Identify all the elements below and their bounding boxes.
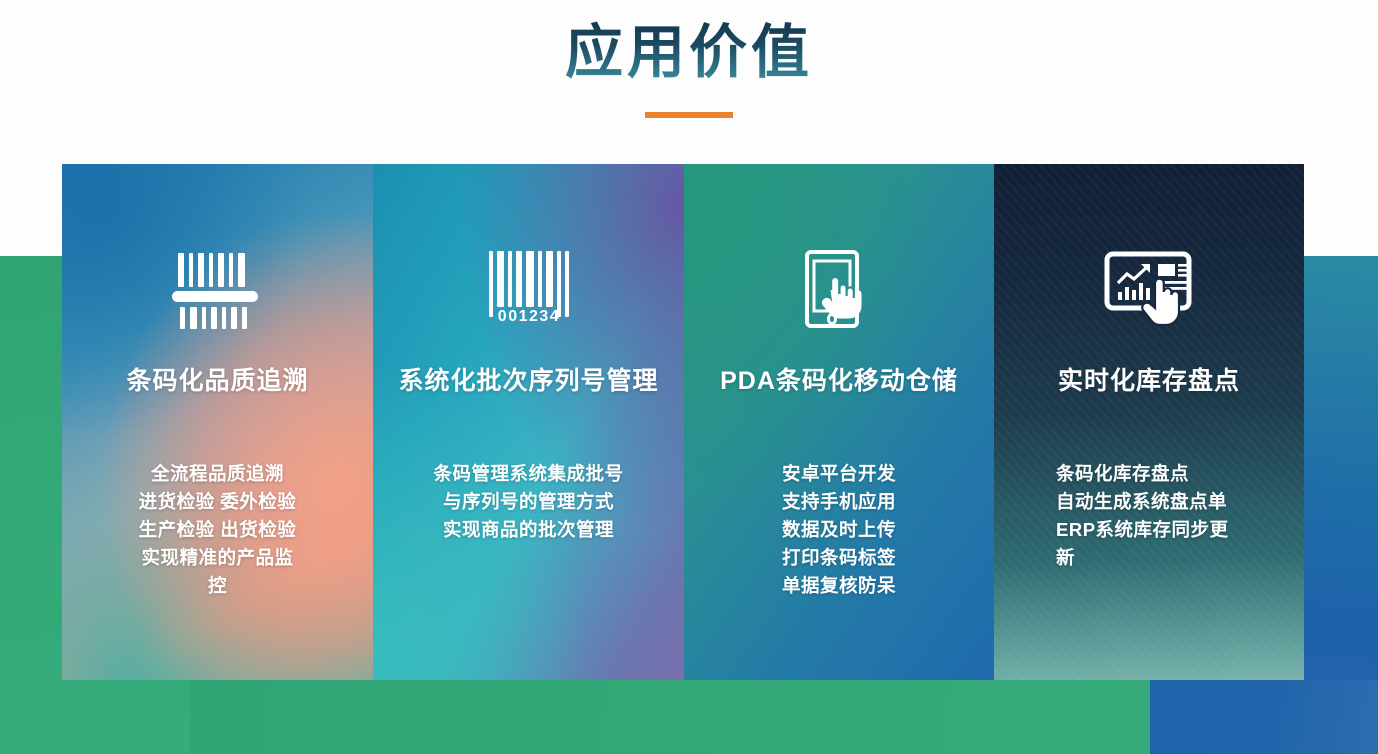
card-body-line: 实现商品的批次管理	[403, 516, 654, 544]
card-title: 系统化批次序列号管理	[373, 366, 684, 396]
card-body: 条码管理系统集成批号 与序列号的管理方式 实现商品的批次管理	[373, 460, 684, 544]
card-body-line: 自动生成系统盘点单	[1056, 488, 1284, 516]
card-body-line: 进货检验 委外检验	[92, 488, 343, 516]
card-body: 安卓平台开发 支持手机应用 数据及时上传 打印条码标签 单据复核防呆	[684, 460, 994, 601]
slide-canvas: 应用价值	[0, 0, 1378, 754]
card-title: PDA条码化移动仓储	[684, 366, 994, 396]
card-body-line: 条码化库存盘点	[1056, 460, 1284, 488]
card-body-line: 数据及时上传	[714, 516, 964, 544]
card-body-line: 条码管理系统集成批号	[403, 460, 654, 488]
value-cards-row: 条码化品质追溯 全流程品质追溯 进货检验 委外检验 生产检验 出货检验 实现精准…	[62, 164, 1304, 680]
card-body: 条码化库存盘点 自动生成系统盘点单 ERP系统库存同步更 新	[994, 460, 1304, 572]
barcode-label-icon: 001234	[487, 250, 571, 330]
card-body-line: 支持手机应用	[714, 488, 964, 516]
value-card-realtime-inventory-count[interactable]: 实时化库存盘点 条码化库存盘点 自动生成系统盘点单 ERP系统库存同步更 新	[994, 164, 1304, 680]
background-band-bottom	[190, 680, 1150, 754]
page-title: 应用价值	[0, 20, 1378, 87]
tablet-touch-icon	[801, 250, 877, 330]
card-body-line: 生产检验 出货检验	[92, 516, 343, 544]
card-title: 实时化库存盘点	[994, 366, 1304, 396]
card-body-line: 打印条码标签	[714, 544, 964, 572]
card-body-line: 实现精准的产品监	[92, 544, 343, 572]
card-body-line: 全流程品质追溯	[92, 460, 343, 488]
background-band-bottom-right	[1150, 680, 1378, 754]
barcode-digits: 001234	[497, 308, 559, 325]
card-body-line: ERP系统库存同步更	[1056, 516, 1284, 544]
card-body-line: 安卓平台开发	[714, 460, 964, 488]
card-title: 条码化品质追溯	[62, 366, 373, 396]
tablet-chart-touch-icon	[1103, 250, 1195, 330]
card-body-line: 新	[1056, 544, 1284, 572]
card-body: 全流程品质追溯 进货检验 委外检验 生产检验 出货检验 实现精准的产品监 控	[62, 460, 373, 601]
value-card-batch-serial-management[interactable]: 001234 系统化批次序列号管理 条码管理系统集成批号 与序列号的管理方式 实…	[373, 164, 684, 680]
value-card-barcode-quality-trace[interactable]: 条码化品质追溯 全流程品质追溯 进货检验 委外检验 生产检验 出货检验 实现精准…	[62, 164, 373, 680]
barcode-scanner-icon	[172, 250, 264, 330]
card-body-line: 与序列号的管理方式	[403, 488, 654, 516]
title-underline-rule	[645, 112, 733, 118]
card-body-line: 控	[92, 572, 343, 600]
value-card-pda-mobile-warehouse[interactable]: PDA条码化移动仓储 安卓平台开发 支持手机应用 数据及时上传 打印条码标签 单…	[684, 164, 994, 680]
card-body-line: 单据复核防呆	[714, 572, 964, 600]
header: 应用价值	[0, 0, 1378, 156]
